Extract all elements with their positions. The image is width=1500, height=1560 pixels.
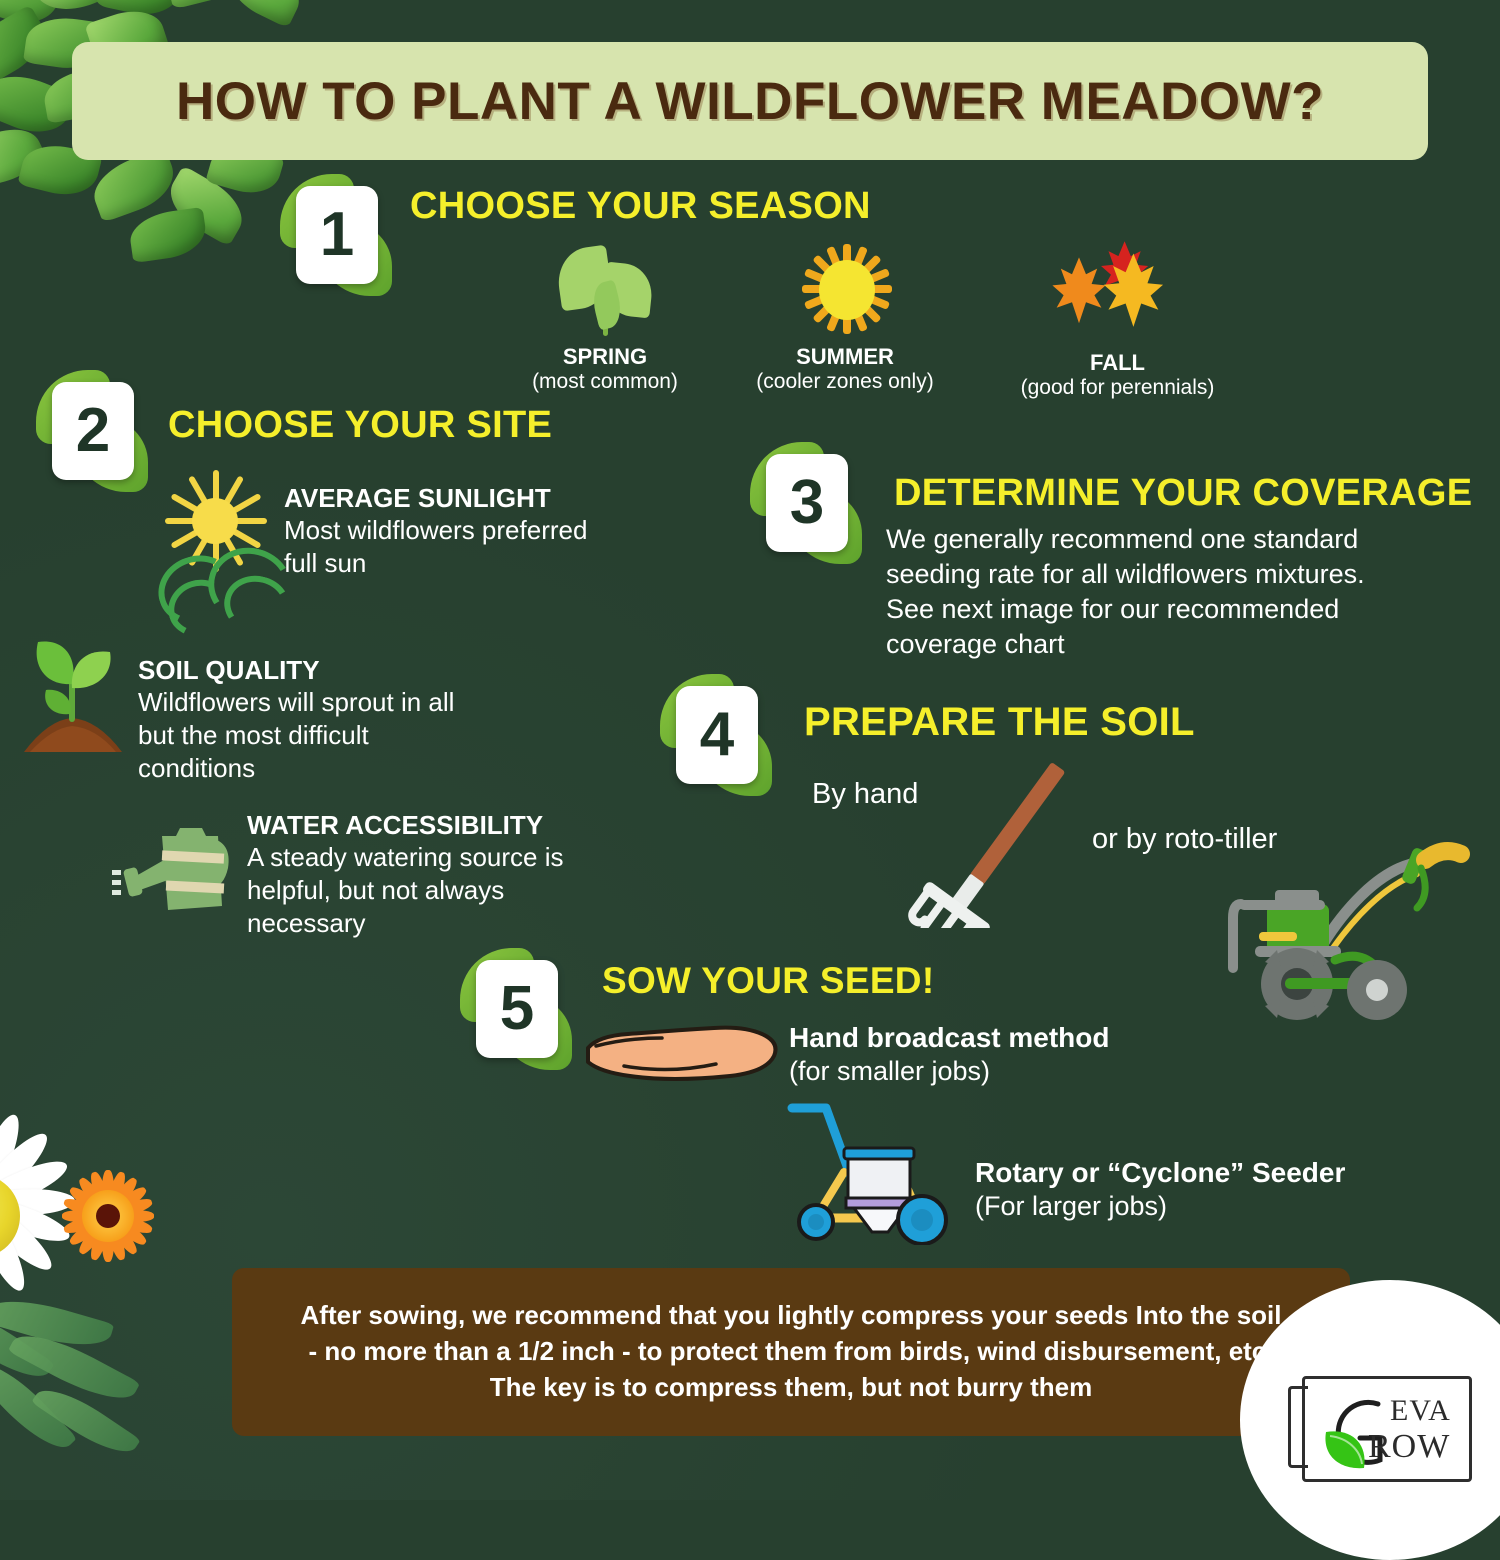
season-spring: SPRING (most common) xyxy=(500,238,710,394)
step-number: 3 xyxy=(790,472,824,534)
badge-plate: 5 xyxy=(476,960,558,1058)
soil-body-line-1: Wildflowers will sprout in all xyxy=(138,687,454,718)
spring-leaf-icon xyxy=(550,238,660,338)
footer-note-line-1: After sowing, we recommend that you ligh… xyxy=(301,1298,1282,1334)
footer-note-text: After sowing, we recommend that you ligh… xyxy=(279,1298,1304,1406)
footer-note-line-3: The key is to compress them, but not bur… xyxy=(301,1370,1282,1406)
brand-logo: EVA ROW xyxy=(1302,1376,1472,1482)
fall-leaves-icon xyxy=(1048,234,1188,344)
roto-tiller-icon xyxy=(1225,812,1500,1027)
step-5-heading: SOW YOUR SEED! xyxy=(602,960,934,1002)
step-2-heading: CHOOSE YOUR SITE xyxy=(168,404,552,447)
logo-word-bottom: ROW xyxy=(1368,1428,1450,1466)
rotary-seeder-icon xyxy=(780,1100,980,1245)
soil-title: SOIL QUALITY xyxy=(138,655,320,686)
badge-plate: 4 xyxy=(676,686,758,784)
step-number: 1 xyxy=(320,204,354,266)
page-title-card: HOW TO PLANT A WILDFLOWER MEADOW? xyxy=(72,42,1428,160)
water-body-line-1: A steady watering source is xyxy=(247,842,564,873)
open-hand-icon xyxy=(580,1020,790,1088)
water-title: WATER ACCESSIBILITY xyxy=(247,810,543,841)
step-badge-1: 1 xyxy=(282,176,390,294)
step-number: 5 xyxy=(500,978,534,1040)
step-badge-2: 2 xyxy=(38,372,146,490)
watering-can-icon xyxy=(110,820,250,924)
season-label: SPRING xyxy=(500,344,710,370)
hand-broadcast-note: (for smaller jobs) xyxy=(789,1056,990,1087)
season-note: (cooler zones only) xyxy=(740,370,950,394)
step-4-heading: PREPARE THE SOIL xyxy=(804,700,1195,745)
season-note: (good for perennials) xyxy=(1005,376,1230,400)
sunlight-body-line-1: Most wildflowers preferred xyxy=(284,515,587,546)
coverage-body-line-1: We generally recommend one standard xyxy=(886,524,1358,555)
soil-body-line-2: but the most difficult xyxy=(138,720,369,751)
sun-over-field-icon xyxy=(162,468,272,598)
infographic-canvas: HOW TO PLANT A WILDFLOWER MEADOW? 1 CHOO… xyxy=(0,0,1500,1500)
logo-word-top: EVA xyxy=(1390,1394,1451,1428)
step-number: 2 xyxy=(76,400,110,462)
season-label: SUMMER xyxy=(740,344,950,370)
footer-note-line-2: - no more than a 1/2 inch - to protect t… xyxy=(301,1334,1282,1370)
sunlight-body-line-2: full sun xyxy=(284,548,366,579)
footer-note-card: After sowing, we recommend that you ligh… xyxy=(232,1268,1350,1436)
water-body-line-3: necessary xyxy=(247,908,366,939)
season-label: FALL xyxy=(1005,350,1230,376)
badge-plate: 2 xyxy=(52,382,134,480)
hand-broadcast-title: Hand broadcast method xyxy=(789,1022,1109,1054)
summer-sun-icon xyxy=(795,238,895,338)
rotary-seeder-note: (For larger jobs) xyxy=(975,1191,1167,1222)
page-title: HOW TO PLANT A WILDFLOWER MEADOW? xyxy=(176,71,1324,132)
step-number: 4 xyxy=(700,704,734,766)
step-1-heading: CHOOSE YOUR SEASON xyxy=(410,185,871,228)
sunlight-title: AVERAGE SUNLIGHT xyxy=(284,483,551,514)
season-note: (most common) xyxy=(500,370,710,394)
step-badge-3: 3 xyxy=(752,444,860,562)
rotary-seeder-title: Rotary or “Cyclone” Seeder xyxy=(975,1157,1345,1189)
maple-leaves-svg xyxy=(1048,234,1188,340)
season-summer: SUMMER (cooler zones only) xyxy=(740,238,950,394)
soil-body-line-3: conditions xyxy=(138,753,255,784)
marigold-flower xyxy=(48,1156,168,1276)
step-badge-4: 4 xyxy=(662,676,770,794)
step-3-heading: DETERMINE YOUR COVERAGE xyxy=(894,472,1472,515)
step-badge-5: 5 xyxy=(462,950,570,1068)
coverage-body-line-2: seeding rate for all wildflowers mixture… xyxy=(886,559,1365,590)
season-fall: FALL (good for perennials) xyxy=(1005,234,1230,400)
badge-plate: 3 xyxy=(766,454,848,552)
coverage-body-line-3: See next image for our recommended xyxy=(886,594,1339,625)
badge-plate: 1 xyxy=(296,186,378,284)
water-body-line-2: helpful, but not always xyxy=(247,875,504,906)
coverage-body-line-4: coverage chart xyxy=(886,629,1065,660)
sprout-in-soil-icon xyxy=(8,632,136,764)
